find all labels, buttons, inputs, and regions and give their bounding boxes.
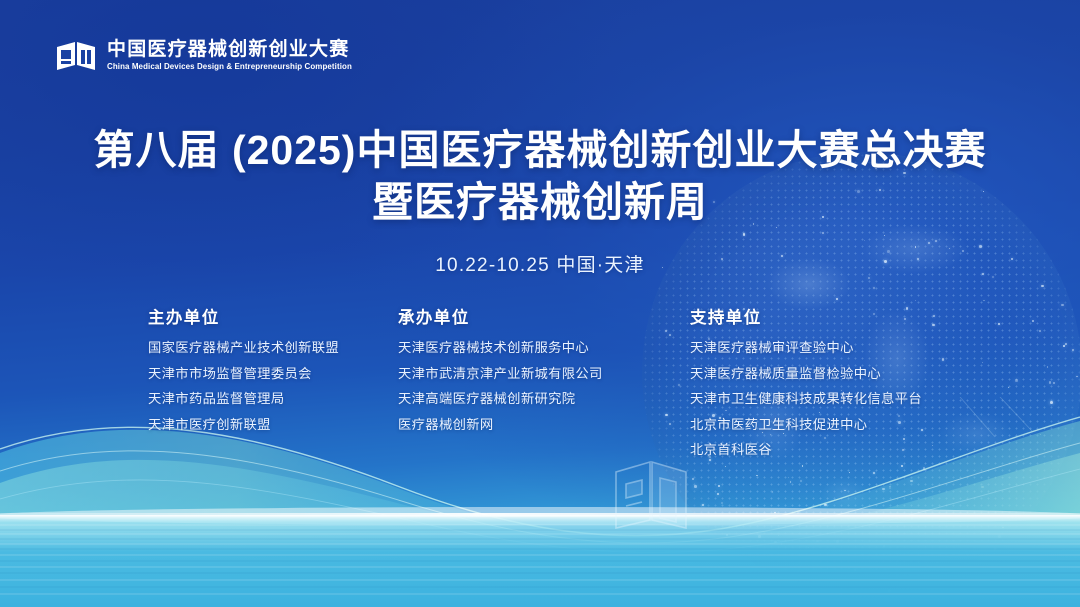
- organizer-item: 天津市医疗创新联盟: [148, 412, 398, 438]
- organizer-item: 天津市武清京津产业新城有限公司: [398, 361, 690, 387]
- page-title: 第八届 (2025)中国医疗器械创新创业大赛总决赛 暨医疗器械创新周: [0, 124, 1080, 229]
- organizer-heading: 主办单位: [148, 304, 398, 328]
- organizer-item: 国家医疗器械产业技术创新联盟: [148, 335, 398, 361]
- organizer-item: 医疗器械创新网: [398, 412, 690, 438]
- organizer-column-supporter: 支持单位 天津医疗器械审评查验中心 天津医疗器械质量监督检验中心 天津市卫生健康…: [690, 304, 998, 463]
- organizer-item: 北京首科医谷: [690, 437, 998, 463]
- organizer-item: 天津医疗器械审评查验中心: [690, 335, 998, 361]
- organizer-heading: 承办单位: [398, 304, 690, 328]
- title-line-1: 第八届 (2025)中国医疗器械创新创业大赛总决赛: [0, 124, 1080, 176]
- organizer-item: 天津市市场监督管理委员会: [148, 361, 398, 387]
- organizer-column-host: 主办单位 国家医疗器械产业技术创新联盟 天津市市场监督管理委员会 天津市药品监督…: [148, 304, 398, 463]
- open-door-book-icon: [54, 36, 98, 76]
- open-door-book-watermark-icon: [598, 452, 704, 538]
- organizer-item: 天津市卫生健康科技成果转化信息平台: [690, 386, 998, 412]
- organizer-item: 天津市药品监督管理局: [148, 386, 398, 412]
- organizer-columns: 主办单位 国家医疗器械产业技术创新联盟 天津市市场监督管理委员会 天津市药品监督…: [148, 304, 998, 463]
- brand-name-en: China Medical Devices Design & Entrepren…: [107, 63, 352, 71]
- brand-name-cn: 中国医疗器械创新创业大赛: [107, 40, 359, 59]
- event-date-location: 10.22-10.25 中国·天津: [0, 250, 1080, 277]
- organizer-item: 北京市医药卫生科技促进中心: [690, 412, 998, 438]
- organizer-item: 天津高端医疗器械创新研究院: [398, 386, 690, 412]
- title-line-2: 暨医疗器械创新周: [0, 176, 1080, 228]
- poster-canvas: 中国医疗器械创新创业大赛 China Medical Devices Desig…: [0, 0, 1080, 607]
- organizer-item: 天津医疗器械质量监督检验中心: [690, 361, 998, 387]
- organizer-column-organizer: 承办单位 天津医疗器械技术创新服务中心 天津市武清京津产业新城有限公司 天津高端…: [398, 304, 690, 463]
- organizer-item: 天津医疗器械技术创新服务中心: [398, 335, 690, 361]
- brand-logo: 中国医疗器械创新创业大赛 China Medical Devices Desig…: [54, 36, 359, 76]
- organizer-heading: 支持单位: [690, 304, 998, 328]
